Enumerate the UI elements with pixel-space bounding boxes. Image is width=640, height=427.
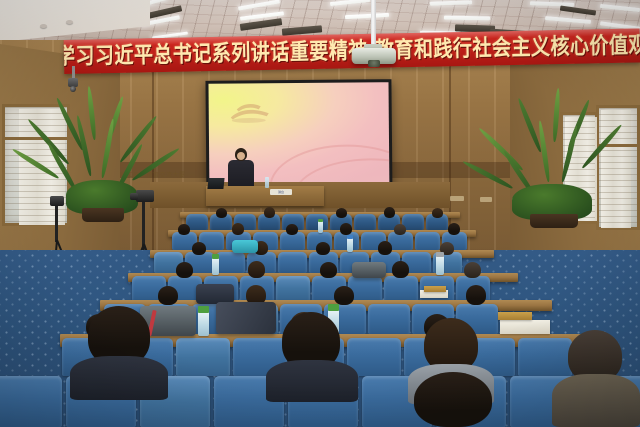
plant-pot [82,208,124,222]
water-bottle [436,256,444,275]
bottle-cap [198,306,209,313]
attendee-head [336,208,347,218]
palm-frond [552,88,561,142]
tripod-column [55,206,58,242]
laptop [207,178,224,189]
attendee-head [392,261,409,278]
ceiling-light [444,16,490,21]
palm-frond [86,86,97,140]
backpack [216,302,276,334]
attendee-head [448,223,460,235]
palm-frond [560,125,579,182]
attendee-head [466,285,486,305]
bottle-cap [436,252,444,257]
attendee-head [286,224,298,235]
seat[interactable] [0,376,62,427]
party-emblem-icon [227,97,273,127]
attendee-head [432,208,443,218]
podium-nameplate: 讲台 [270,189,292,195]
seat[interactable] [216,252,245,273]
attendee-head [248,261,265,278]
seat[interactable] [368,304,410,334]
podium-table [206,186,324,206]
plant-pot [530,214,578,228]
seat[interactable] [176,338,230,376]
water-bottle [198,312,209,336]
attendee-head [384,207,395,218]
attendee-shoulders [70,356,168,400]
attendee-head [192,242,206,255]
attendee-head [378,241,392,255]
seat[interactable] [518,338,572,376]
backpack [196,284,234,304]
attendee-head [316,242,330,255]
attendee-head [176,262,193,278]
seat[interactable] [306,214,328,230]
water-bottle [212,258,219,275]
bottle-cap [212,254,219,259]
attendee-shoulders [266,360,358,402]
smoke-detector-icon [40,24,47,28]
camera-lens-hood-icon [130,193,138,200]
seat[interactable] [354,214,376,230]
attendee-head-foreground [414,372,492,427]
projector-lens-icon [368,60,380,67]
camera-mount-arm [72,66,75,78]
lecture-hall-photo: 学习习近平总书记系列讲话重要精神 教育和践行社会主义核心价值观 讲台 理工国际教… [0,0,640,427]
seat[interactable] [384,276,418,301]
water-bottle [318,221,323,233]
notebook [500,320,550,334]
bottle-cap [328,304,339,311]
attendee-head [216,208,227,218]
bottle-cap [318,219,323,222]
water-bottle [347,238,353,252]
notebook [424,286,446,292]
camera-lens-icon [70,86,76,92]
tripod-column [142,202,145,246]
bottle-cap [347,235,353,239]
attendee-head [158,286,178,305]
backpack [232,240,258,253]
seat[interactable] [278,252,307,273]
attendee-head [394,224,406,235]
seat[interactable] [276,276,310,301]
attendee-head [464,262,481,278]
podium-nameplate-text: 讲台 [270,189,292,195]
podium-water-bottle [265,177,269,188]
seat[interactable] [415,232,440,250]
wall-plaque [450,196,464,201]
smoke-detector-icon [66,20,73,24]
attendee-head [232,223,244,235]
wall-plaque [480,197,492,202]
attendee-head [264,207,275,218]
attendee-head [334,286,354,305]
speaker-at-podium [228,148,254,190]
pencil-case [498,312,532,320]
speaker-face [237,152,245,160]
video-camera-body [136,190,154,202]
camera-body [50,196,64,206]
attendee-head [320,262,337,278]
projector-mount-pole [371,0,376,50]
palm-frond [100,118,115,178]
attendee-shoulders [552,374,640,427]
potted-palm-right [500,86,608,224]
attendee-head [178,224,190,235]
attendee-head [340,223,352,235]
jacket-on-seat [352,262,386,278]
